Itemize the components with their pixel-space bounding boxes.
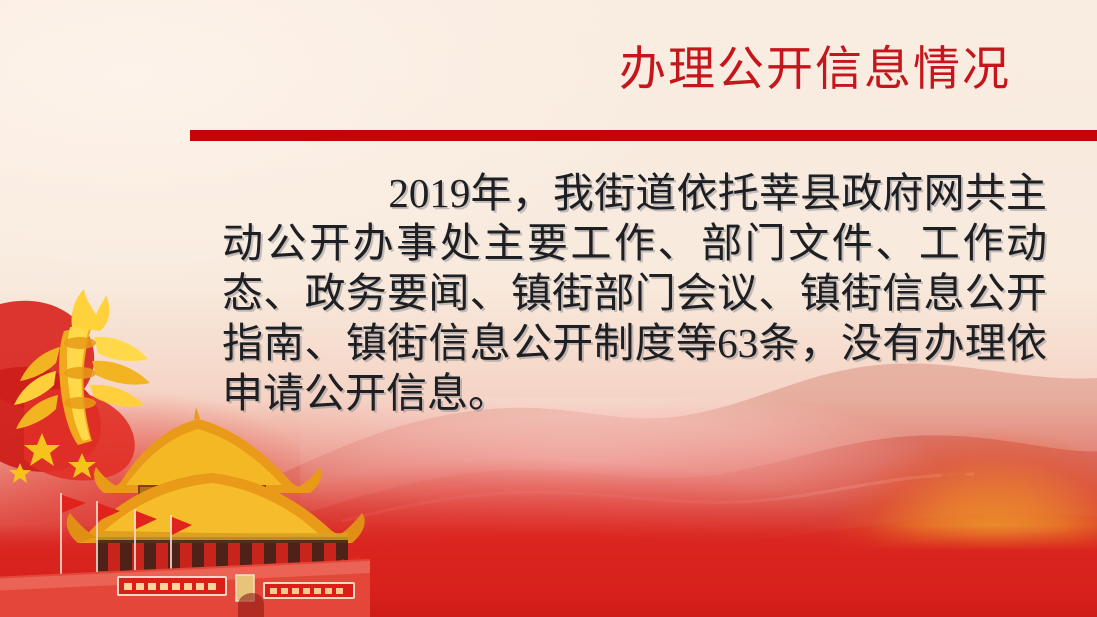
presentation-slide: 办理公开信息情况 2019年，我街道依托莘县政府网共主动公开办事处主要工作、部门… [0, 0, 1097, 617]
page-title: 办理公开信息情况 [600, 47, 1030, 94]
title-divider-rule [190, 130, 1097, 141]
body-paragraph: 2019年，我街道依托莘县政府网共主动公开办事处主要工作、部门文件、工作动态、政… [222, 168, 1047, 418]
